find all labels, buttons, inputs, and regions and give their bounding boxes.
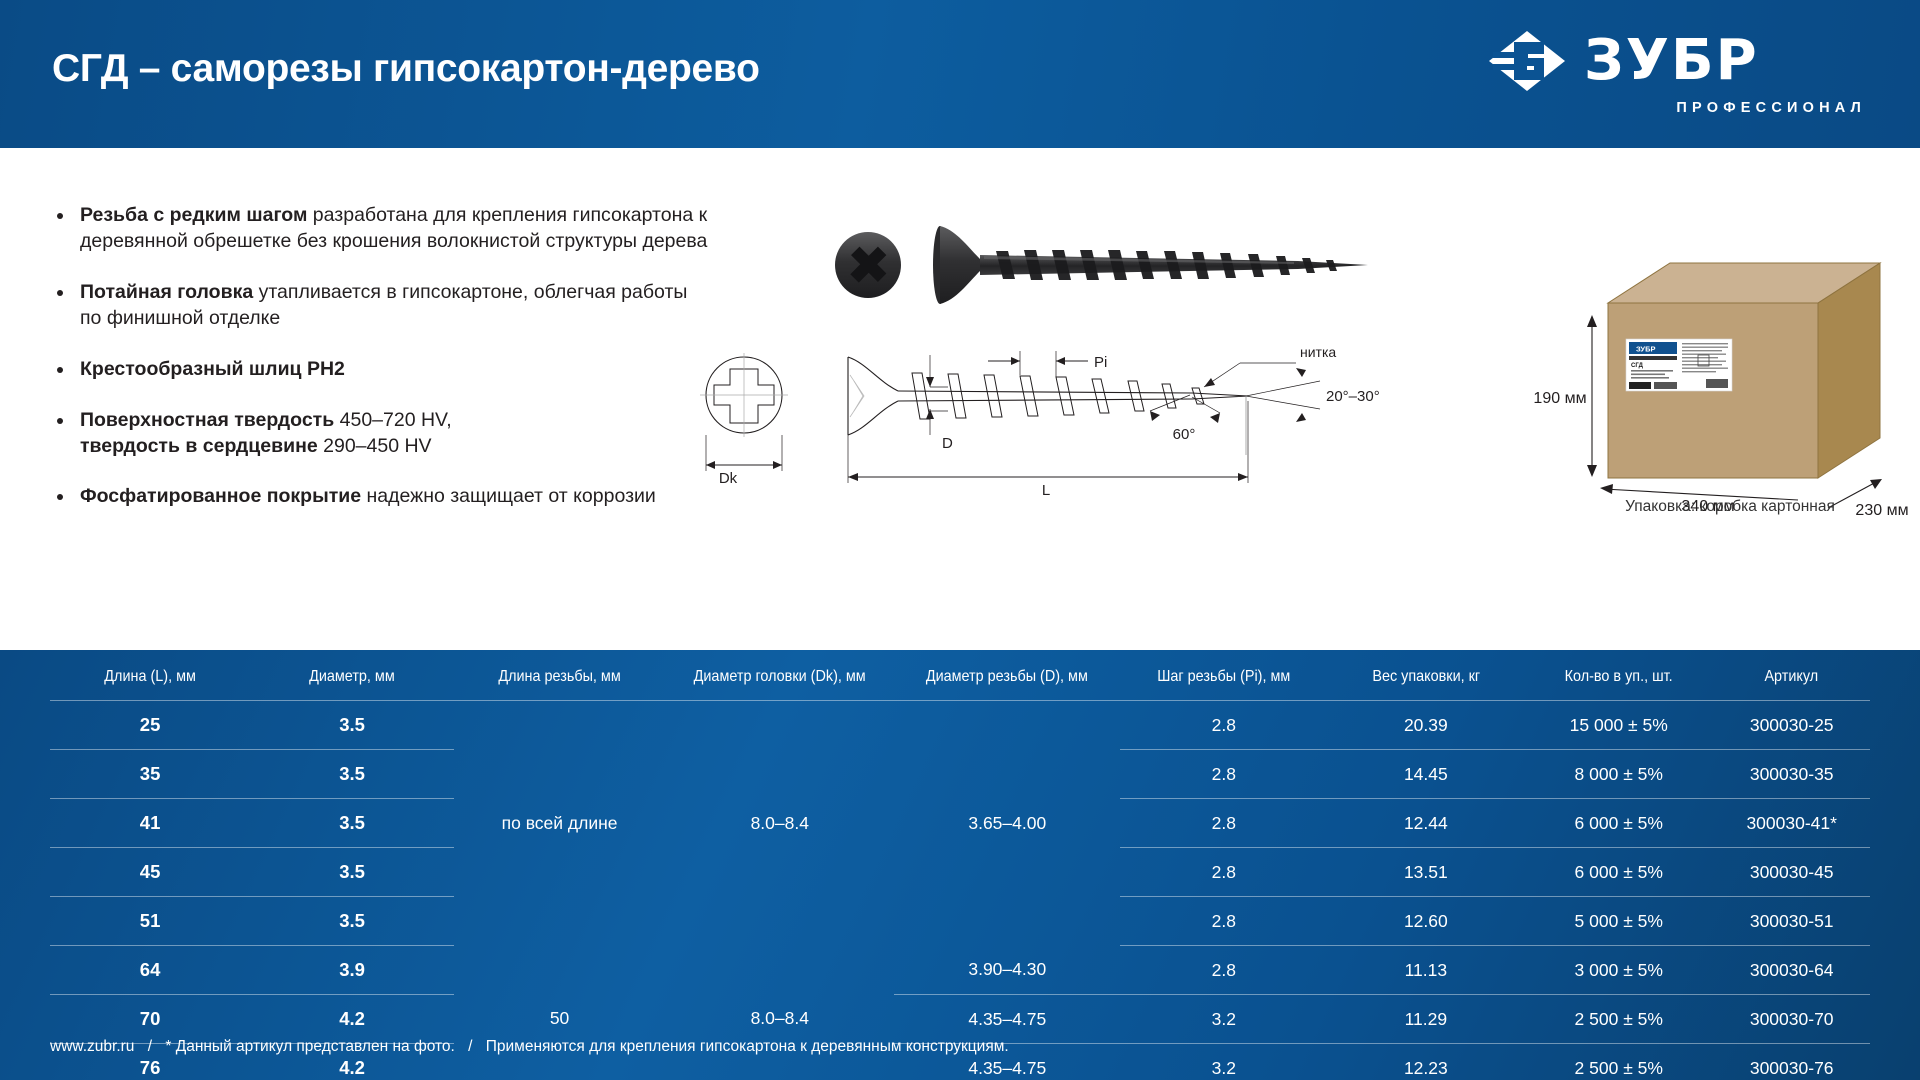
cell-quantity: 15 000 ± 5% — [1524, 701, 1713, 750]
footer-separator: / — [459, 1038, 481, 1055]
package-label-model: СГД — [1631, 363, 1644, 369]
cell-pitch: 3.2 — [1120, 1044, 1327, 1080]
list-item: Поверхностная твердость 450–720 HV, твер… — [48, 408, 708, 460]
cell-quantity: 8 000 ± 5% — [1524, 750, 1713, 799]
cell-sku: 300030-70 — [1713, 995, 1870, 1044]
col-header-sku: Артикул — [1721, 650, 1862, 701]
cell-weight: 14.45 — [1328, 750, 1525, 799]
list-item: Фосфатированное покрытие надежно защищае… — [48, 484, 708, 510]
specification-table: Длина (L), мм Диаметр, мм Длина резьбы, … — [50, 650, 1870, 1080]
list-item: Резьба с редким шагом разработана для кр… — [48, 203, 708, 255]
list-item: Потайная головка утапливается в гипсокар… — [48, 280, 708, 332]
cell-diameter: 3.5 — [250, 848, 454, 897]
page-title: СГД – саморезы гипсокартон-дерево — [52, 47, 760, 91]
feature-title: Поверхностная твердость — [80, 409, 334, 431]
feature-title: Фосфатированное покрытие — [80, 485, 361, 507]
bullet-icon — [57, 290, 63, 296]
screw-side-view — [933, 226, 1368, 304]
label-thread-angle: 20°–30° — [1326, 388, 1380, 405]
cell-weight: 11.29 — [1328, 995, 1525, 1044]
cell-length: 51 — [50, 897, 250, 946]
col-header-thread-diameter: Диаметр резьбы (D), мм — [906, 650, 1109, 701]
cell-pitch: 2.8 — [1120, 946, 1327, 995]
cell-thread-diameter: 4.35–4.75 — [894, 995, 1120, 1044]
label-d: D — [942, 435, 953, 452]
cell-sku: 300030-35 — [1713, 750, 1870, 799]
cell-weight: 12.60 — [1328, 897, 1525, 946]
cell-pitch: 3.2 — [1120, 995, 1327, 1044]
table-header-row: Длина (L), мм Диаметр, мм Длина резьбы, … — [50, 650, 1870, 701]
cell-pitch: 2.8 — [1120, 848, 1327, 897]
cell-pitch: 2.8 — [1120, 701, 1327, 750]
cell-quantity: 6 000 ± 5% — [1524, 848, 1713, 897]
footer-separator: / — [139, 1038, 161, 1055]
package-height-label: 190 мм — [1533, 390, 1586, 407]
cell-diameter: 3.9 — [250, 946, 454, 995]
cell-quantity: 6 000 ± 5% — [1524, 799, 1713, 848]
col-header-head-diameter: Диаметр головки (Dk), мм — [677, 650, 883, 701]
feature-title: Крестообразный шлиц PH2 — [80, 358, 345, 380]
cell-weight: 11.13 — [1328, 946, 1525, 995]
col-header-length: Длина (L), мм — [60, 650, 240, 701]
cell-weight: 12.44 — [1328, 799, 1525, 848]
col-header-weight: Вес упаковки, кг — [1337, 650, 1514, 701]
cell-pitch: 2.8 — [1120, 897, 1327, 946]
footer-photo-note: * Данный артикул представлен на фото. — [165, 1038, 454, 1055]
footer-usage-note: Применяются для крепления гипсокартона к… — [486, 1038, 1009, 1055]
label-l: L — [1042, 482, 1050, 499]
col-header-thread-length: Длина резьбы, мм — [465, 650, 655, 701]
cell-pitch: 2.8 — [1120, 750, 1327, 799]
cell-sku: 300030-41* — [1713, 799, 1870, 848]
table-row: 25 3.5 по всей длине 8.0–8.4 3.65–4.00 2… — [50, 701, 1870, 750]
drawing-side-view — [848, 351, 1320, 483]
feature-title-secondary: твердость в сердцевине — [80, 435, 318, 457]
cell-length: 70 — [50, 995, 250, 1044]
bullet-icon — [57, 367, 63, 373]
package-illustration: ЗУБР СГД — [1530, 223, 1920, 523]
page-header: СГД – саморезы гипсокартон-дерево ЗУБР П… — [0, 0, 1920, 148]
list-item: Крестообразный шлиц PH2 — [48, 357, 708, 383]
drawing-head-front-view — [700, 353, 788, 471]
cell-length: 25 — [50, 701, 250, 750]
zubr-diamond-icon — [1488, 30, 1566, 92]
cell-diameter: 3.5 — [250, 701, 454, 750]
cell-sku: 300030-51 — [1713, 897, 1870, 946]
label-point-angle: 60° — [1173, 426, 1196, 443]
cell-thread-diameter: 3.90–4.30 — [894, 946, 1120, 995]
cell-weight: 20.39 — [1328, 701, 1525, 750]
cell-quantity: 2 500 ± 5% — [1524, 1044, 1713, 1080]
package-label: ЗУБР СГД — [1626, 339, 1732, 391]
feature-title: Резьба с редким шагом — [80, 204, 307, 226]
cell-thread-length-group2: 50 — [454, 946, 665, 1080]
footer-website[interactable]: www.zubr.ru — [50, 1038, 134, 1055]
cell-sku: 300030-64 — [1713, 946, 1870, 995]
package-label-brand: ЗУБР — [1636, 345, 1655, 354]
cell-thread-diameter-group1: 3.65–4.00 — [894, 701, 1120, 946]
footer-note: www.zubr.ru / * Данный артикул представл… — [50, 1038, 1009, 1056]
cell-pitch: 2.8 — [1120, 799, 1327, 848]
cell-diameter: 3.5 — [250, 897, 454, 946]
table-row: 64 3.9 50 8.0–8.4 3.90–4.30 2.8 11.13 3 … — [50, 946, 1870, 995]
cell-sku: 300030-25 — [1713, 701, 1870, 750]
col-header-quantity: Кол-во в уп., шт. — [1534, 650, 1704, 701]
cell-diameter: 3.5 — [250, 799, 454, 848]
brand-name: ЗУБР — [1584, 33, 1759, 89]
cell-head-diameter-group1: 8.0–8.4 — [665, 701, 894, 946]
cell-sku: 300030-76 — [1713, 1044, 1870, 1080]
label-pi: Pi — [1094, 354, 1107, 371]
bullet-icon — [57, 418, 63, 424]
feature-text: надежно защищает от коррозии — [361, 485, 656, 507]
cell-quantity: 5 000 ± 5% — [1524, 897, 1713, 946]
feature-list: Резьба с редким шагом разработана для кр… — [48, 203, 708, 510]
table-row: 70 4.2 4.35–4.75 3.2 11.29 2 500 ± 5% 30… — [50, 995, 1870, 1044]
cell-weight: 12.23 — [1328, 1044, 1525, 1080]
brand-tagline: ПРОФЕССИОНАЛ — [1676, 100, 1866, 116]
package-caption: Упаковка: коробка картонная — [1530, 498, 1920, 516]
cell-length: 45 — [50, 848, 250, 897]
brand-logo: ЗУБР ПРОФЕССИОНАЛ — [1488, 30, 1868, 122]
cell-diameter: 3.5 — [250, 750, 454, 799]
label-dk: Dk — [719, 470, 738, 487]
screw-head-top-view — [835, 232, 901, 298]
cell-sku: 300030-45 — [1713, 848, 1870, 897]
product-spec-sheet: СГД – саморезы гипсокартон-дерево ЗУБР П… — [0, 0, 1920, 1080]
technical-drawing: Dk D Pi L 60° 20°–30° нитка — [680, 343, 1520, 508]
specification-table-section: Длина (L), мм Диаметр, мм Длина резьбы, … — [0, 650, 1920, 1080]
cell-head-diameter-group2: 8.0–8.4 — [665, 946, 894, 1080]
cell-diameter: 4.2 — [250, 995, 454, 1044]
col-header-diameter: Диаметр, мм — [260, 650, 443, 701]
feature-text-secondary: 290–450 HV — [318, 435, 432, 457]
cell-quantity: 3 000 ± 5% — [1524, 946, 1713, 995]
feature-text: 450–720 HV, — [334, 409, 451, 431]
bullet-icon — [57, 494, 63, 500]
cell-thread-length-group1: по всей длине — [454, 701, 665, 946]
cell-length: 41 — [50, 799, 250, 848]
content-area: Резьба с редким шагом разработана для кр… — [0, 148, 1920, 650]
cell-length: 64 — [50, 946, 250, 995]
label-thread: нитка — [1300, 344, 1336, 360]
cell-weight: 13.51 — [1328, 848, 1525, 897]
cell-length: 35 — [50, 750, 250, 799]
col-header-pitch: Шаг резьбы (Pi), мм — [1130, 650, 1317, 701]
cell-quantity: 2 500 ± 5% — [1524, 995, 1713, 1044]
bullet-icon — [57, 213, 63, 219]
screw-product-photo — [828, 203, 1388, 333]
feature-title: Потайная головка — [80, 281, 253, 303]
